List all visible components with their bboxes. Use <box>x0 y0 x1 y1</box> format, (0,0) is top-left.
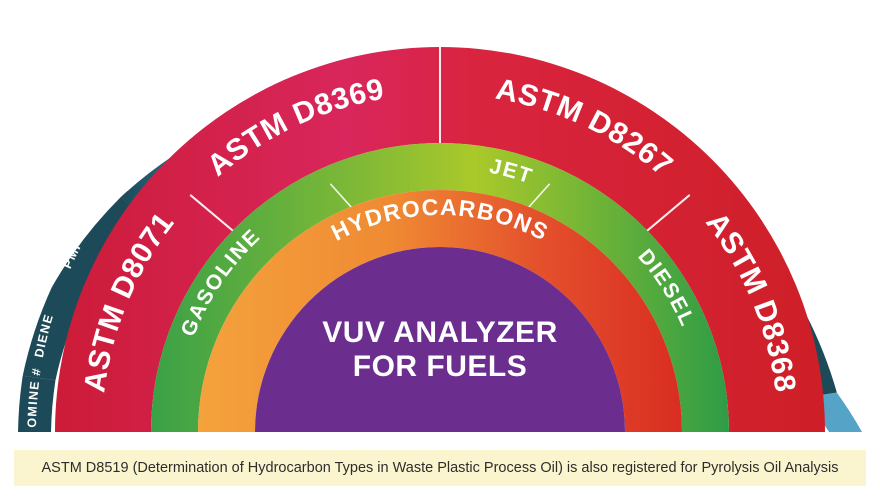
label-d86: D86 <box>496 21 525 39</box>
footnote-caption: ASTM D8519 (Determination of Hydrocarbon… <box>14 450 866 486</box>
label-avgas: AV GAS <box>623 63 677 103</box>
footnote-caption-text: ASTM D8519 (Determination of Hydrocarbon… <box>42 460 839 476</box>
label-ronmon: RON/MON <box>249 36 319 75</box>
infographic-root: BROMINE # DIENE PMI NTGA RON/MON D86 AV … <box>0 0 880 497</box>
radial-fan-diagram: BROMINE # DIENE PMI NTGA RON/MON D86 AV … <box>0 0 880 440</box>
